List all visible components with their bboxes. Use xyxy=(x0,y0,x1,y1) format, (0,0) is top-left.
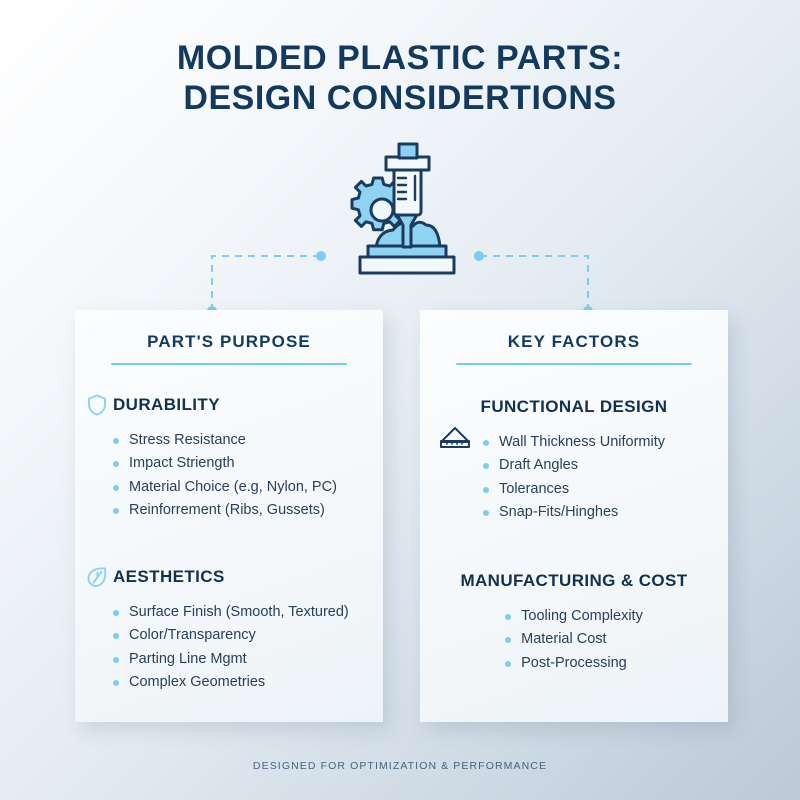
section-heading: AESTHETICS xyxy=(113,567,225,587)
list-item: Material Cost xyxy=(505,628,643,651)
list-item: Surface Finish (Smooth, Textured) xyxy=(113,601,383,624)
section-functional-design: FUNCTIONAL DESIGN Wall Thickness Uniform… xyxy=(420,397,728,525)
list-item: Stress Resistance xyxy=(113,429,383,452)
list-item: Reinforrement (Ribs, Gussets) xyxy=(113,499,383,522)
list-item: Material Choice (e.g, Nylon, PC) xyxy=(113,476,383,499)
title-line-2: DESIGN CONSIDERTIONS xyxy=(0,78,800,118)
bullet-list: Stress Resistance Impact Striength Mater… xyxy=(113,429,383,523)
section-heading: FUNCTIONAL DESIGN xyxy=(481,397,668,417)
bullet-list-wrapper: Tooling Complexity Material Cost Post-Pr… xyxy=(420,591,728,675)
card-title-underline xyxy=(111,363,347,365)
list-item: Draft Angles xyxy=(483,454,665,477)
list-item: Snap-Fits/Hinghes xyxy=(483,501,665,524)
list-item: Post-Processing xyxy=(505,652,643,675)
section-durability: DURABILITY Stress Resistance Impact Stri… xyxy=(75,395,383,523)
bullet-list: Tooling Complexity Material Cost Post-Pr… xyxy=(505,605,643,675)
ruler-protractor-icon xyxy=(438,423,472,449)
card-title-underline xyxy=(456,363,692,365)
section-aesthetics: AESTHETICS Surface Finish (Smooth, Textu… xyxy=(75,567,383,695)
card-parts-purpose: PART'S PURPOSE DURABILITY Stress Resista… xyxy=(75,310,383,722)
injection-molding-machine-icon xyxy=(330,140,480,280)
card-title: PART'S PURPOSE xyxy=(75,332,383,352)
bullet-list: Surface Finish (Smooth, Textured) Color/… xyxy=(113,601,383,695)
section-manufacturing-cost: MANUFACTURING & COST Tooling Complexity … xyxy=(420,571,728,675)
list-item: Wall Thickness Uniformity xyxy=(483,431,665,454)
shield-icon xyxy=(85,393,109,417)
section-heading: MANUFACTURING & COST xyxy=(460,571,687,591)
leaf-icon xyxy=(85,565,109,589)
title-line-1: MOLDED PLASTIC PARTS: xyxy=(0,38,800,78)
bullet-list-wrapper: Wall Thickness Uniformity Draft Angles T… xyxy=(420,417,728,525)
bullet-list: Wall Thickness Uniformity Draft Angles T… xyxy=(483,431,665,525)
list-item: Parting Line Mgmt xyxy=(113,648,383,671)
list-item: Tooling Complexity xyxy=(505,605,643,628)
footer-tagline: DESIGNED FOR OPTIMIZATION & PERFORMANCE xyxy=(0,760,800,772)
card-title: KEY FACTORS xyxy=(420,332,728,352)
card-key-factors: KEY FACTORS FUNCTIONAL DESIGN Wall Thick… xyxy=(420,310,728,722)
page-title: MOLDED PLASTIC PARTS: DESIGN CONSIDERTIO… xyxy=(0,38,800,118)
list-item: Color/Transparency xyxy=(113,624,383,647)
list-item: Complex Geometries xyxy=(113,671,383,694)
section-heading: DURABILITY xyxy=(113,395,220,415)
list-item: Tolerances xyxy=(483,478,665,501)
list-item: Impact Striength xyxy=(113,452,383,475)
